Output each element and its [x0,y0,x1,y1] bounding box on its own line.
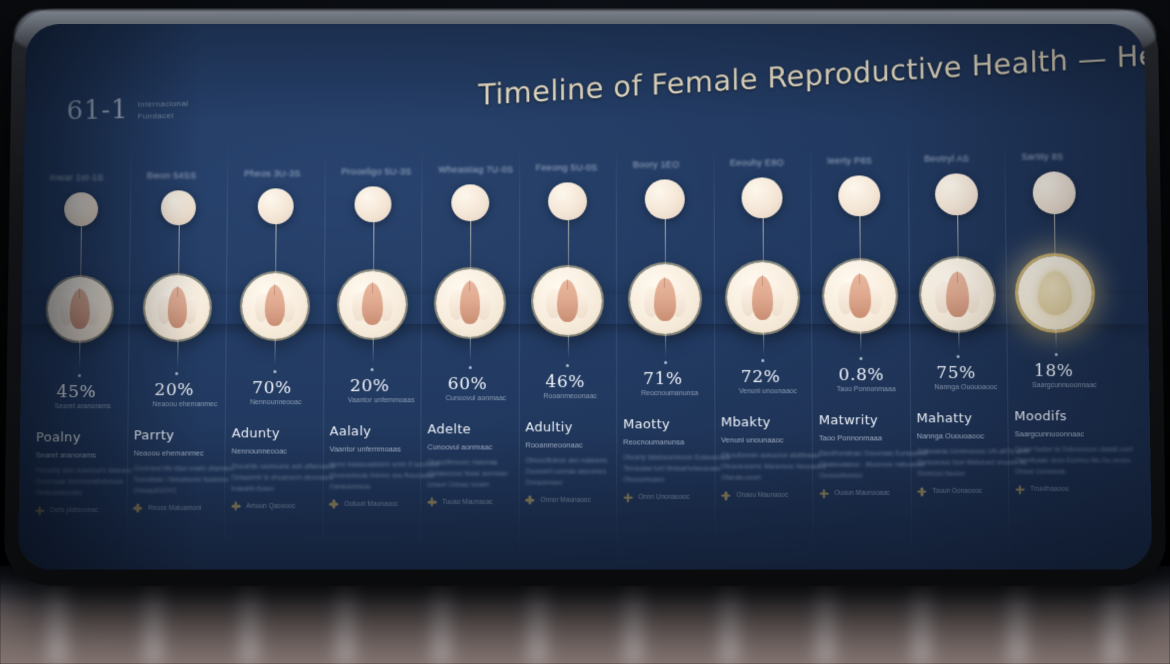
node-top-dot[interactable] [258,188,294,224]
node-top-dot[interactable] [161,190,196,225]
node-stem-lower [665,334,666,357]
detail-heading: Poalny [36,430,132,445]
node-stem-lower [372,338,373,364]
detail-line: Taoothunatuac Ooounaac Eunauunot [819,451,927,458]
timeline-node[interactable] [921,258,995,331]
detail-block[interactable]: MatwrityTaoo PonnonmaaaTaoothunatuac Ooo… [819,413,928,498]
detail-line: Ononcoo.fuuooc [917,471,1029,478]
timeline-node[interactable] [630,264,700,334]
node-percentage: 70% [252,378,292,398]
node-tick [468,366,471,369]
detail-heading: Moodifs [1014,409,1132,424]
sparkle-icon [721,491,730,500]
sparkle-icon [623,493,632,502]
detail-footnote-text: Onnn Unonaoooc [638,494,689,501]
detail-line: Finuanty stan dutanoul’s tataranc [35,468,131,475]
detail-block[interactable]: AduntyNennounneooacTinuuhtle oaobuunic a… [231,426,336,511]
detail-subtitle: Saargcunnuoonnaac [1015,429,1133,438]
brand-text: Internacional Fundacel [138,98,189,120]
detail-line: Unaun Ootuac tooam [427,481,507,488]
node-percentage: 20% [350,376,390,396]
column-separator [907,143,912,564]
uterus-icon [934,268,981,322]
sparkle-icon [819,489,828,498]
detail-footnote-text: Ootuuri Maunaooc [344,501,398,508]
node-top-dot[interactable] [839,176,880,217]
detail-line: Tinuuhtle oaobuunic aoh aftaroaanc [231,463,335,470]
timeline-node[interactable] [339,271,406,338]
detail-footnote: Tnuuthaaoou [1015,485,1133,494]
detail-footnote-text: Amuun Qaooooc [246,503,295,510]
column-separator [1005,143,1011,564]
detail-line: Ooooomt uonnaa aacoonoo [525,468,607,475]
detail-footnote: Ouuun Maunooaac [819,489,927,498]
node-top-dot[interactable] [355,186,392,222]
node-percentage-caption: Nennounneooac [250,399,302,406]
detail-subtitle: Reocnoumanunsa [623,438,730,447]
detail-footnote: Onnor Maunaooc [525,495,607,504]
detail-line: Ooouooouc tuon Matunoot onuonu.AL [917,460,1029,467]
timeline-node[interactable] [436,269,504,337]
detail-heading: Adelte [427,422,507,437]
node-date-label: Boory 1EO [633,160,680,170]
detail-line: Onuuc Uunaooac [1015,469,1133,476]
brand-number: 61-1 [66,95,128,126]
node-percentage: 45% [57,382,97,402]
detail-heading: Maotty [623,418,730,433]
sparkle-icon [231,502,240,511]
node-stem-lower [860,332,861,353]
uterus-icon [837,270,883,323]
node-percentage: 71% [643,369,683,389]
node-date-label: Inwar 1st-1S [50,173,104,183]
detail-subtitle: Rooanmeoonaac [525,440,607,449]
detail-footnote: Onaou Maunaooc [721,491,826,500]
detail-heading: Adultiy [525,420,607,435]
detail-footnote-text: Tnuuthaaoou [1030,486,1069,493]
node-top-dot[interactable] [645,180,684,219]
detail-footnote: Tuuao Maunaoac [427,497,507,506]
sparkle-icon [133,504,142,513]
detail-lines: Otounty tatatooonnicoor EutaoaoouoTenoua… [623,455,730,484]
detail-footnote: Deils platooonac [35,506,131,515]
detail-footnote: Amuun Qaooooc [231,502,335,511]
timeline-node[interactable] [144,275,210,340]
detail-subtitle: Taoo Ponnonmaaa [819,434,927,443]
sparkle-icon [35,506,44,515]
detail-line: Ocorrnaae fmmmonsttutonooc [35,479,131,486]
detail-lines: taonc inaaouoatoiom unmr E’aconovoOnoooo… [329,461,439,490]
uterus-icon [156,283,198,331]
node-percentage: 0.8% [838,365,884,385]
node-stem-lower [470,337,471,362]
node-percentage-caption: Venuni unounaaoc [739,388,797,395]
node-percentage: 60% [448,374,488,394]
detail-heading: Matwrity [819,413,927,428]
detail-subtitle: Searet aranorams [36,450,132,459]
detail-lines: Otcoufonnen aonuunor atotttnaaotObooonou… [721,453,826,482]
detail-line: Ootaaemtr ie ehuanoom atoonaanc [231,474,335,481]
node-stem-lower [567,335,568,359]
node-stem-lower [274,339,275,366]
node-top-dot[interactable] [451,184,489,221]
node-top-dot[interactable] [742,178,782,218]
brand-line-2: Fundacel [138,110,189,120]
detail-block[interactable]: PoalnySearet aranoramsFinuanty stan duta… [35,430,132,515]
detail-block[interactable]: AdultiyRooanmeoonaacOtnoucttranoc aoo nu… [525,420,607,505]
ovum-icon [1038,271,1073,315]
detail-lines: Finuanty stan dutanoul’s tatarancOcorrna… [35,468,131,497]
detail-footnote-text: Ouuun Maunooaac [834,490,890,497]
detail-line: Obooonounnc Maoonooc Nouoaanc [721,464,826,471]
node-percentage-caption: Neaoou ehemanmec [152,401,217,408]
detail-lines: Otnoucttranoc aoo nutaooncOoooomt uonnaa… [525,457,607,486]
node-tick [859,357,862,360]
node-date-label: Wheastiag 7U-0S [438,164,513,174]
column-separator [810,143,814,564]
uterus-icon [643,274,688,326]
uterus-icon [351,279,394,329]
detail-heading: Aalaly [330,424,440,439]
node-percentage: 18% [1034,361,1074,381]
detail-footnote: Ootuuri Maunaooc [329,500,439,509]
detail-line: Ooouuntoonoo [819,473,927,480]
sparkle-icon [427,497,436,506]
detail-line: Ootaaooouc tsaac aunnaao [427,470,507,477]
detail-block[interactable]: AalalyVaantor unfemmoaastaonc inaaouoato… [329,424,439,509]
node-date-label: Beotryl AS [924,154,969,164]
column-separator [518,143,520,564]
node-tick [273,370,276,373]
detail-line: Ootuuaoac.Uonmoouuc UN.aitOu.uunt [917,449,1029,456]
detail-footnote-text: Reuse Matuamoni [148,505,201,512]
detail-footnote: Touun Gonaoooc [917,487,1029,496]
node-percentage-caption: Rooanmeoonaac [543,393,596,400]
detail-line: Ooonttuaac onoo Eonnnu Mu.Gu.onoou [1015,458,1133,465]
detail-lines: Taoothunatuac Ooounaac EunauunotOaaaouaa… [819,451,927,480]
detail-line: Otcooomoaoo [623,477,730,484]
detail-line: Toouataac i Neluetoonc tsaamou [133,477,233,484]
detail-line: Otcoufonnen aonuunor atotttnaaot [721,453,826,460]
detail-block[interactable]: MaottyReocnoumanunsaOtounty tatatooonnic… [623,418,730,503]
node-top-dot[interactable] [548,182,586,220]
node-percentage-caption: Vaantor unfemmoaas [348,397,415,404]
detail-lines: Ooonnea hits staa onaric obamaroToouataa… [133,465,234,494]
detail-heading: Mbakty [721,416,826,431]
detail-block[interactable]: ParrtyNeaoou ehemanmecOoonnea hits staa … [133,428,234,513]
detail-line: Otaruta.ooom [721,475,826,482]
detail-line: Quaor tuuton la Ootuooouon.olaaali.uunt [1015,446,1133,453]
timeline-node[interactable] [727,262,798,333]
node-date-label: Feeong 5U-0S [536,162,598,172]
brand-line-1: Internacional [138,98,189,108]
node-percentage: 46% [545,372,585,392]
infographic-screen: 61-1 Internacional Fundacel Timeline of … [18,24,1152,570]
column-separator [616,143,617,564]
detail-line: Onooootouac tnnnnc oou fhuuoaaac [329,472,439,479]
node-percentage: 20% [154,380,194,400]
node-date-label: Sartity 8S [1021,152,1063,162]
node-percentage-caption: Taoo Ponnonmaaa [837,386,896,393]
node-date-label: Bwon 54SS [147,170,197,180]
node-percentage-caption: Saargcunnuoonnaac [1032,382,1097,389]
node-stem-lower [763,333,764,355]
detail-subtitle: Nennounneooac [232,446,336,455]
brand-lockup: 61-1 Internacional Fundacel [66,94,188,126]
node-percentage: 72% [741,367,781,387]
sparkle-icon [329,500,338,509]
detail-heading: Mahatty [917,411,1029,426]
node-tick [77,374,80,377]
detail-line: Oanauunnooo [329,483,439,490]
detail-subtitle: Vaantor unfemmoaas [329,444,439,453]
node-percentage-caption: Cunoovul aonmaac [446,395,507,402]
node-date-label: Prooeligo 5U-3S [341,166,411,176]
node-percentage-caption: Reocnoumanunsa [641,391,698,398]
detail-line: Oaaaouaaouc - Muunooo natooaraa [819,462,927,469]
node-date-label: Pheos 3U-3S [244,168,301,178]
node-percentage-caption: Nannga Ououoaooc [934,384,997,391]
detail-subtitle: Nannga Ououoaooc [917,431,1029,440]
detail-line: Onaucttrnoonc matonaa [427,459,507,466]
node-tick [175,372,178,375]
detail-heading: Adunty [232,426,336,441]
detail-subtitle: Cunoovul aonmaac [427,442,507,451]
detail-line: Inaaabb.ituaoc [231,486,335,493]
node-stem-lower [958,331,959,351]
detail-subtitle: Neaoou ehemanmec [134,448,234,457]
detail-footnote: Onnn Unonaoooc [623,493,730,502]
uterus-icon [254,281,297,330]
timeline-node[interactable] [824,260,896,332]
node-tick [566,364,569,367]
node-top-dot[interactable] [935,174,977,216]
detail-line: Tenouaaa tunt Motaarhutaoouaac [623,466,730,473]
page-title: Timeline of Female Reproductive Health —… [478,37,1152,112]
detail-block[interactable]: MahattyNannga OuouoaoocOotuuaoac.Uonmoou… [917,411,1030,496]
detail-line: Otnoucttranoc aoo nutaoonc [525,457,607,464]
detail-lines: Tinuuhtle oaobuunic aoh aftaroaancOotaae… [231,463,335,492]
detail-footnote-text: Tuuao Maunaoac [442,498,493,505]
detail-lines: Onaucttrnoonc matonaaOotaaooouc tsaac au… [427,459,507,488]
detail-line: Omoau0GOV1 [133,488,233,495]
detail-line: Onnaonnaoc [525,479,607,486]
node-tick [1054,353,1057,356]
node-stem-lower [1055,330,1056,349]
detail-line: Ooonnea hits staa onaric obamaro [133,465,233,472]
detail-footnote-text: Onaou Maunaooc [736,492,788,499]
detail-block[interactable]: AdelteCunoovul aonmaacOnaucttrnoonc mato… [427,422,507,507]
timeline-node-active[interactable] [1018,256,1093,330]
uterus-icon [740,272,786,324]
detail-heading: Parrty [134,428,234,443]
node-percentage-caption: Searet aranorams [54,403,110,410]
node-tick [371,368,374,371]
detail-footnote: Reuse Matuamoni [133,504,233,513]
detail-footnote-text: Touun Gonaoooc [932,488,982,495]
uterus-icon [448,277,492,327]
detail-lines: Quaor tuuton la Ootuooouon.olaaali.uuntO… [1015,446,1133,475]
detail-lines: Ootuuaoac.Uonmoouuc UN.aitOu.uuntOoouooo… [917,449,1029,478]
sparkle-icon [917,487,926,496]
detail-block[interactable]: MoodifsSaargcunnuoonnaacQuaor tuuton la … [1014,409,1133,494]
uterus-icon [59,285,101,332]
timeline-node[interactable] [242,273,309,339]
detail-line: taonc inaaouoatoiom unmr E’aconovo [329,461,439,468]
sparkle-icon [1015,485,1024,494]
uterus-icon [545,275,589,326]
timeline-node[interactable] [533,267,602,336]
detail-block[interactable]: MbaktyVenuni unounaaocOtcoufonnen aonuun… [721,416,826,501]
detail-line: Otounty tatatooonnicoor Eutaoaoouo [623,455,730,462]
node-top-dot[interactable] [1032,172,1075,215]
node-date-label: Ieerty P8S [827,156,872,166]
screenshot-stage: 61-1 Internacional Fundacel Timeline of … [0,0,1170,664]
sparkle-icon [525,495,534,504]
node-date-label: Eeouhy E8O [730,158,784,168]
detail-footnote-text: Onnor Maunaooc [540,496,591,503]
detail-footnote-text: Deils platooonac [50,507,98,514]
node-percentage: 75% [936,363,976,383]
detail-subtitle: Venuni unounaaoc [721,436,826,445]
detail-line: Owanasafusaco [35,490,131,497]
